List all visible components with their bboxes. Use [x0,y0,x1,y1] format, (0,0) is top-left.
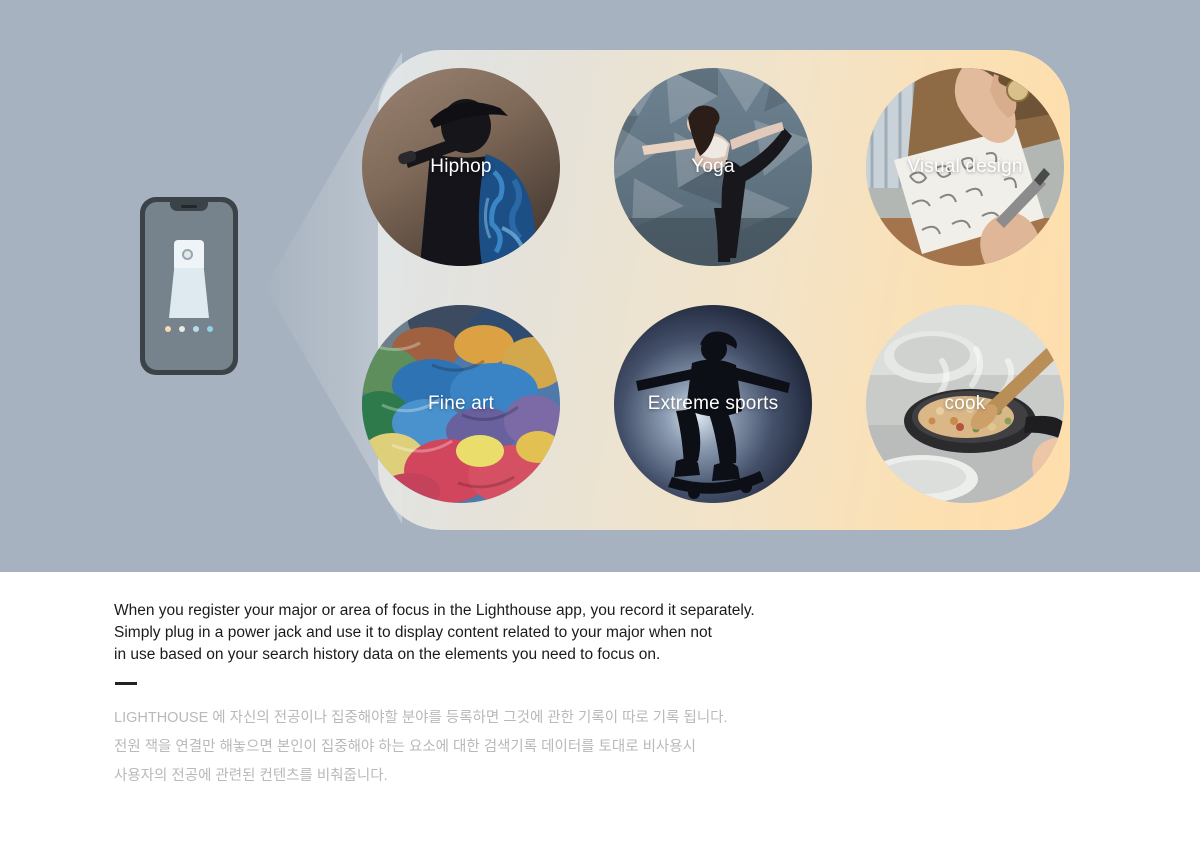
category-label: Extreme sports [614,393,812,415]
lamp-body [169,268,209,318]
category-circle-extreme-sports[interactable]: Extreme sports [614,305,812,503]
phone-mockup [140,197,238,375]
description-section: When you register your major or area of … [0,572,1200,848]
section-divider [115,682,137,685]
desc-ko-line-3: 사용자의 전공에 관련된 컨텐츠를 비춰줍니다. [114,762,874,791]
dot-cream[interactable] [179,326,185,332]
phone-screen[interactable] [145,202,233,370]
category-circle-hiphop[interactable]: Hiphop [362,68,560,266]
dot-cyan[interactable] [207,326,213,332]
lighthouse-lamp-icon [169,240,209,318]
category-label: Fine art [362,393,560,415]
desc-ko-line-1: LIGHTHOUSE 에 자신의 전공이나 집중해야할 분야를 등록하면 그것에… [114,704,874,733]
lamp-lens-icon [182,249,193,260]
description-korean: LIGHTHOUSE 에 자신의 전공이나 집중해야할 분야를 등록하면 그것에… [114,704,874,791]
category-circle-cook[interactable]: cook [866,305,1064,503]
description-english: When you register your major or area of … [114,600,874,666]
category-circle-fine-art[interactable]: Fine art [362,305,560,503]
desc-en-line-3: in use based on your search history data… [114,644,874,666]
desc-en-line-2: Simply plug in a power jack and use it t… [114,622,874,644]
desc-en-line-1: When you register your major or area of … [114,600,874,622]
desc-ko-line-2: 전원 잭을 연결만 해놓으면 본인이 집중해야 하는 요소에 대한 검색기록 데… [114,733,874,762]
color-dots[interactable] [165,326,213,332]
phone-notch [170,202,208,211]
category-circle-yoga[interactable]: Yoga [614,68,812,266]
dot-sky[interactable] [193,326,199,332]
category-label: Yoga [614,156,812,178]
category-label: Visual design [866,156,1064,178]
hero-section: Hiphop [0,0,1200,572]
category-label: Hiphop [362,156,560,178]
category-label: cook [866,393,1064,415]
dot-peach[interactable] [165,326,171,332]
category-circle-visual-design[interactable]: Visual design [866,68,1064,266]
